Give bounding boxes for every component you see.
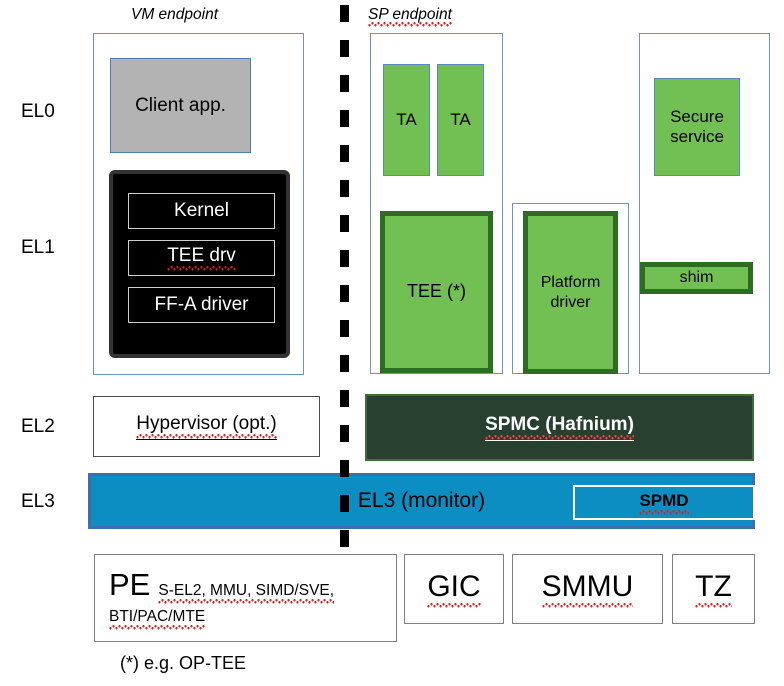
divider-dash <box>340 180 349 197</box>
footnote-optee: (*) e.g. OP-TEE <box>120 653 246 674</box>
ffa-driver-label: FF-A driver <box>155 294 249 316</box>
platform-driver-line2: driver <box>550 294 590 311</box>
platform-driver-box[interactable]: Platform driver <box>523 211 618 374</box>
secure-service-label: Secure service <box>670 107 724 146</box>
shim-box[interactable]: shim <box>640 262 753 294</box>
hypervisor-label: Hypervisor (opt.) <box>136 413 276 440</box>
architecture-diagram: VM endpoint SP endpoint EL0 EL1 EL2 EL3 … <box>0 0 784 686</box>
pe-detail-line1: S-EL2, MMU, SIMD/SVE, <box>158 582 334 604</box>
client-app-label: Client app. <box>135 95 226 117</box>
tee-drv-box[interactable]: TEE drv <box>128 240 275 276</box>
spmc-label: SPMC (Hafnium) <box>485 414 634 441</box>
divider-dash <box>340 40 349 57</box>
smmu-label: SMMU <box>542 570 634 608</box>
kernel-label: Kernel <box>174 200 229 222</box>
client-app-box[interactable]: Client app. <box>110 58 251 153</box>
tz-box[interactable]: TZ <box>672 554 755 624</box>
el-label-el0: EL0 <box>21 101 55 123</box>
vm-endpoint-title: VM endpoint <box>131 6 218 24</box>
gic-box[interactable]: GIC <box>404 554 504 624</box>
sp-endpoint-title: SP endpoint <box>368 6 452 24</box>
ta-box-2[interactable]: TA <box>437 64 484 176</box>
security-boundary-divider <box>340 0 349 560</box>
gic-label: GIC <box>427 570 480 608</box>
tee-box[interactable]: TEE (*) <box>380 211 493 373</box>
el-label-el2: EL2 <box>21 416 55 438</box>
spmd-label: SPMD <box>639 491 688 515</box>
divider-dash <box>340 285 349 302</box>
divider-dash <box>340 390 349 407</box>
divider-dash <box>340 425 349 442</box>
platform-driver-line1: Platform <box>541 274 601 291</box>
el3-monitor-label: EL3 (monitor) <box>358 489 485 513</box>
divider-dash <box>340 320 349 337</box>
hypervisor-box[interactable]: Hypervisor (opt.) <box>93 396 320 457</box>
shim-label: shim <box>680 268 714 287</box>
smmu-box[interactable]: SMMU <box>512 554 663 624</box>
divider-dash <box>340 355 349 372</box>
divider-dash <box>340 460 349 477</box>
divider-dash <box>340 75 349 92</box>
ffa-driver-box[interactable]: FF-A driver <box>128 287 275 323</box>
pe-detail-line2: BTI/PAC/MTE <box>109 608 205 630</box>
ta-label-2: TA <box>450 110 470 130</box>
ta-label-1: TA <box>396 110 416 130</box>
vm-kernel-stack: Kernel TEE drv FF-A driver <box>109 170 290 358</box>
el-label-el1: EL1 <box>21 237 55 259</box>
divider-dash <box>340 145 349 162</box>
divider-dash <box>340 530 349 547</box>
divider-dash <box>340 250 349 267</box>
spmc-box[interactable]: SPMC (Hafnium) <box>365 394 754 461</box>
divider-dash <box>340 110 349 127</box>
tz-label: TZ <box>695 570 732 608</box>
divider-dash <box>340 5 349 22</box>
divider-dash <box>340 495 349 512</box>
secure-service-box[interactable]: Secure service <box>654 78 740 176</box>
platform-driver-label: Platform driver <box>541 273 601 311</box>
el-label-el3: EL3 <box>21 491 55 513</box>
secure-service-line1: Secure <box>670 107 724 126</box>
secure-service-line2: service <box>670 127 724 146</box>
sp-endpoint-title-text: SP endpoint <box>368 6 452 27</box>
pe-box[interactable]: PE S-EL2, MMU, SIMD/SVE, BTI/PAC/MTE <box>94 554 397 642</box>
pe-name: PE <box>109 567 150 603</box>
ta-box-1[interactable]: TA <box>383 64 430 176</box>
kernel-box[interactable]: Kernel <box>128 193 275 229</box>
spmd-box[interactable]: SPMD <box>573 485 755 520</box>
tee-drv-label: TEE drv <box>167 245 236 271</box>
divider-dash <box>340 215 349 232</box>
tee-label: TEE (*) <box>407 281 466 303</box>
